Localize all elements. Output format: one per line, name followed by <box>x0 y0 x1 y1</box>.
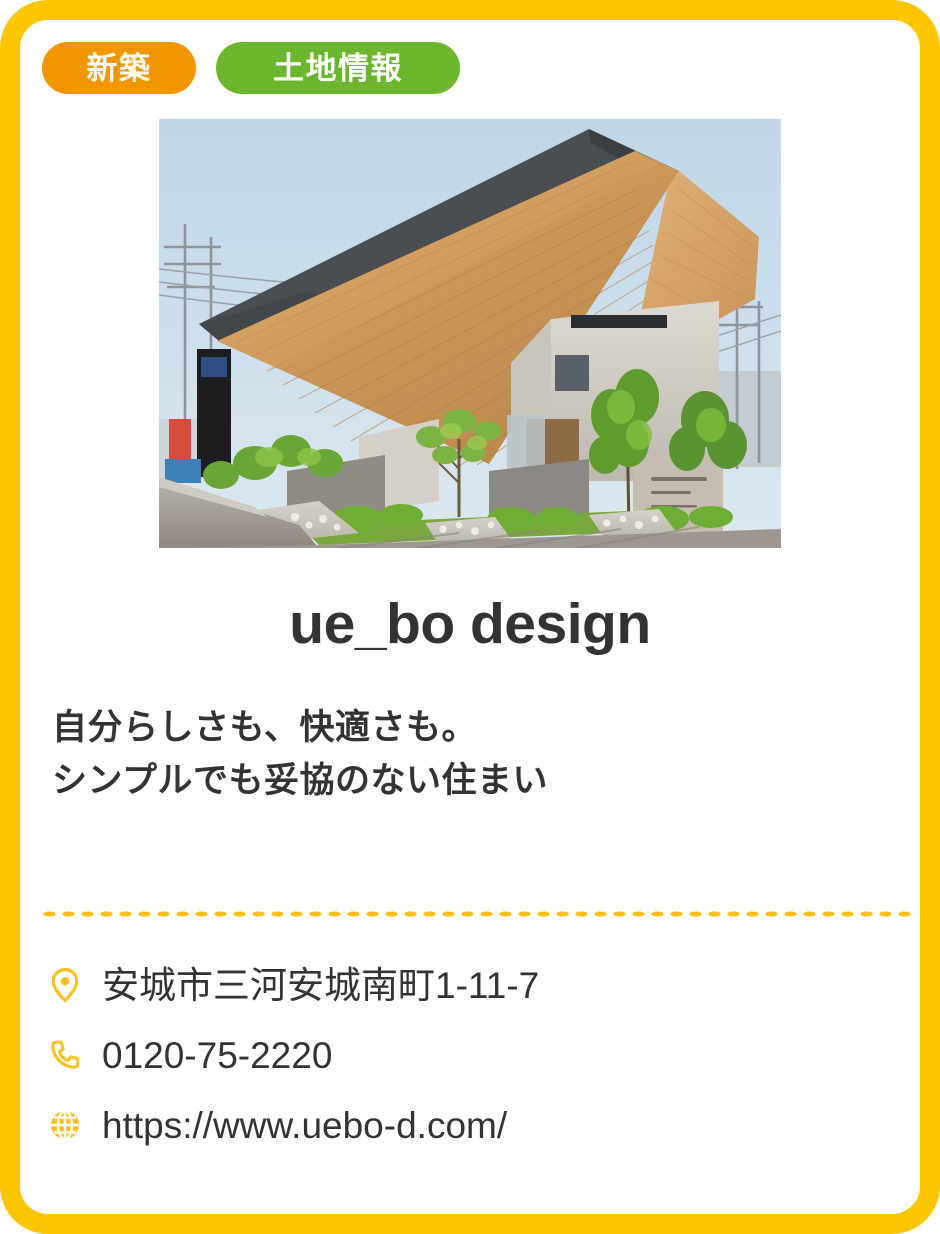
property-card: 新築 土地情報 <box>0 0 940 1234</box>
card-inner: 新築 土地情報 <box>20 20 920 1214</box>
map-pin-icon <box>48 966 82 1004</box>
property-photo[interactable] <box>159 119 781 548</box>
website-text[interactable]: https://www.uebo-d.com/ <box>102 1107 507 1144</box>
phone-icon <box>48 1036 82 1074</box>
tagline-line-2: シンプルでも妥協のない住まい <box>52 755 548 808</box>
badge-new-construction[interactable]: 新築 <box>42 42 196 94</box>
badge-row: 新築 土地情報 <box>42 42 460 94</box>
address-text: 安城市三河安城南町1-11-7 <box>102 967 539 1004</box>
contact-row-address: 安城市三河安城南町1-11-7 <box>48 950 908 1020</box>
contact-row-website[interactable]: https://www.uebo-d.com/ <box>48 1090 908 1160</box>
badge-land-info[interactable]: 土地情報 <box>216 42 460 94</box>
phone-text[interactable]: 0120-75-2220 <box>102 1037 332 1074</box>
contact-row-phone[interactable]: 0120-75-2220 <box>48 1020 908 1090</box>
property-photo-image <box>159 119 781 548</box>
dotted-divider <box>40 910 918 918</box>
house-exterior-illustration <box>159 119 781 548</box>
tagline: 自分らしさも、快適さも。 シンプルでも妥協のない住まい <box>52 702 548 807</box>
contact-list: 安城市三河安城南町1-11-7 0120-75-2220 <box>48 950 908 1160</box>
globe-icon <box>48 1106 82 1144</box>
tagline-line-1: 自分らしさも、快適さも。 <box>52 702 548 755</box>
page-title: ue_bo design <box>20 593 920 656</box>
